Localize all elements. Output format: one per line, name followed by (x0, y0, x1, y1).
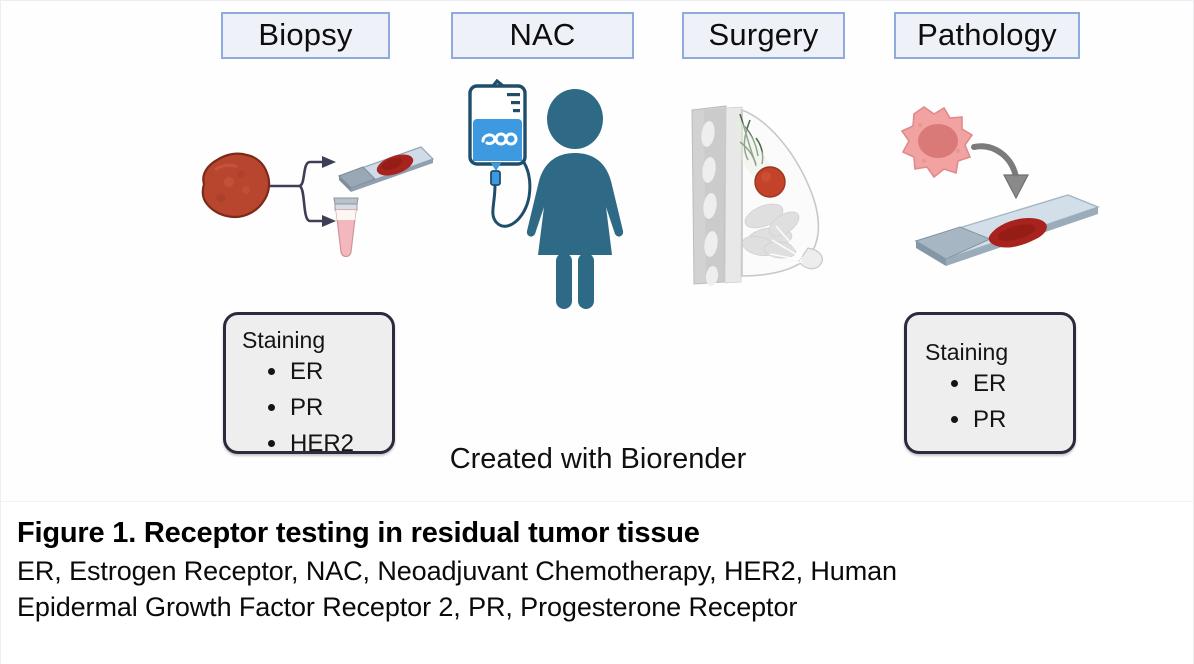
staining-item: ER (951, 372, 1073, 396)
biopsy-illustration (171, 126, 436, 271)
staining-box-biopsy[interactable]: Staining ER PR HER2 (223, 312, 395, 454)
iv-drip-bag-icon (470, 81, 530, 226)
bullet-icon (951, 416, 958, 423)
stage-box-surgery[interactable]: Surgery (682, 12, 845, 59)
caption-line: ER, Estrogen Receptor, NAC, Neoadjuvant … (17, 554, 1177, 590)
panel-divider (1, 501, 1194, 502)
staining-list-biopsy: ER PR HER2 (242, 360, 392, 456)
pathology-illustration (886, 99, 1111, 284)
figure-caption: Figure 1. Receptor testing in residual t… (17, 516, 1177, 626)
stage-box-biopsy[interactable]: Biopsy (221, 12, 390, 59)
caption-title: Figure 1. Receptor testing in residual t… (17, 516, 1177, 550)
staining-title-pathology: Staining (925, 341, 1073, 364)
staining-item: ER (268, 360, 392, 384)
bullet-icon (951, 380, 958, 387)
stage-label-nac: NAC (509, 19, 575, 50)
biorender-credit: Created with Biorender (1, 445, 1194, 474)
stage-label-pathology: Pathology (917, 19, 1057, 50)
stage-label-biopsy: Biopsy (258, 19, 352, 50)
staining-item-label: PR (290, 394, 323, 421)
figure-container: Biopsy NAC Surgery Pathology (0, 0, 1194, 664)
surgery-illustration (684, 98, 859, 290)
stage-box-nac[interactable]: NAC (451, 12, 634, 59)
stage-box-pathology[interactable]: Pathology (894, 12, 1080, 59)
arrow-head-lower (322, 215, 336, 227)
bullet-icon (268, 404, 275, 411)
female-patient-icon (527, 89, 623, 309)
stage-label-surgery: Surgery (709, 19, 819, 50)
branching-arrow-icon (270, 162, 323, 221)
breast-anatomy-cross-section-icon (692, 106, 822, 287)
tumor-mass-icon (203, 154, 269, 217)
microscope-slide-icon (339, 147, 433, 192)
staining-title-biopsy: Staining (242, 329, 392, 352)
caption-line: Epidermal Growth Factor Receptor 2, PR, … (17, 590, 1177, 626)
staining-list-pathology: ER PR (925, 372, 1073, 432)
tumor-cell-icon (902, 107, 972, 177)
staining-item: PR (268, 396, 392, 420)
nac-illustration (463, 79, 648, 311)
curved-arrow-icon (974, 146, 1028, 198)
staining-item-label: PR (973, 406, 1006, 433)
arrow-head-upper (322, 156, 336, 168)
bullet-icon (268, 368, 275, 375)
staining-item: PR (951, 408, 1073, 432)
staining-item-label: ER (290, 358, 323, 385)
staining-item-label: ER (973, 370, 1006, 397)
illustration-panel: Biopsy NAC Surgery Pathology (1, 1, 1194, 501)
centrifuge-tube-icon (334, 198, 358, 257)
staining-box-pathology[interactable]: Staining ER PR (904, 312, 1076, 454)
stained-microscope-slide-icon (916, 195, 1098, 266)
